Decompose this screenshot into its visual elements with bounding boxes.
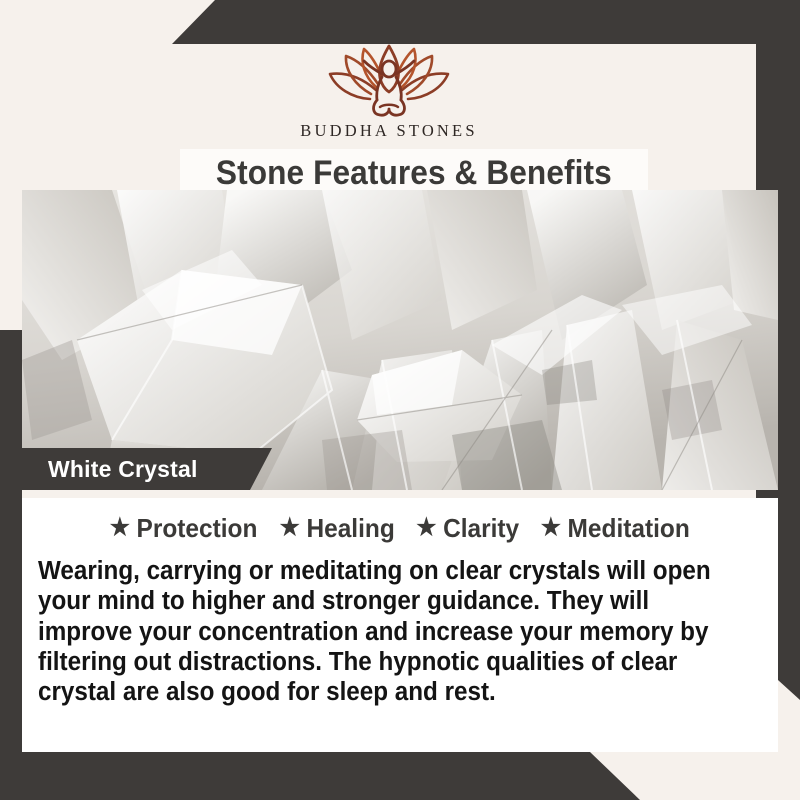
benefit-item-protection: ★ Protection xyxy=(110,513,258,544)
benefits-row: ★ Protection ★ Healing ★ Clarity ★ Medit… xyxy=(22,504,778,552)
benefit-label: Healing xyxy=(307,513,395,544)
benefit-item-meditation: ★ Meditation xyxy=(541,513,690,544)
benefit-item-healing: ★ Healing xyxy=(280,513,395,544)
page-title: Stone Features & Benefits xyxy=(216,154,612,193)
star-icon: ★ xyxy=(541,516,561,540)
crystal-illustration xyxy=(22,190,778,490)
benefit-label: Protection xyxy=(137,513,258,544)
brand-name: BUDDHA STONES xyxy=(300,121,477,141)
star-icon: ★ xyxy=(110,516,130,540)
brand-logo: BUDDHA STONES xyxy=(22,44,756,148)
benefit-label: Clarity xyxy=(443,513,519,544)
stone-caption-label: White Crystal xyxy=(48,456,198,483)
star-icon: ★ xyxy=(416,516,436,540)
lotus-meditation-icon xyxy=(314,44,464,118)
content-panel: ★ Protection ★ Healing ★ Clarity ★ Medit… xyxy=(22,498,778,752)
frame-bottom-bar xyxy=(0,752,800,800)
stone-caption-tag: White Crystal xyxy=(22,448,272,490)
frame-top-bar xyxy=(0,0,800,44)
frame-left-bar xyxy=(0,330,22,800)
star-icon: ★ xyxy=(280,516,300,540)
description-text: Wearing, carrying or meditating on clear… xyxy=(38,556,726,708)
benefit-label: Meditation xyxy=(568,513,690,544)
white-crystal-cluster-photo xyxy=(22,190,778,490)
product-info-card: BUDDHA STONES Stone Features & Benefits xyxy=(0,0,800,800)
benefit-item-clarity: ★ Clarity xyxy=(416,513,519,544)
